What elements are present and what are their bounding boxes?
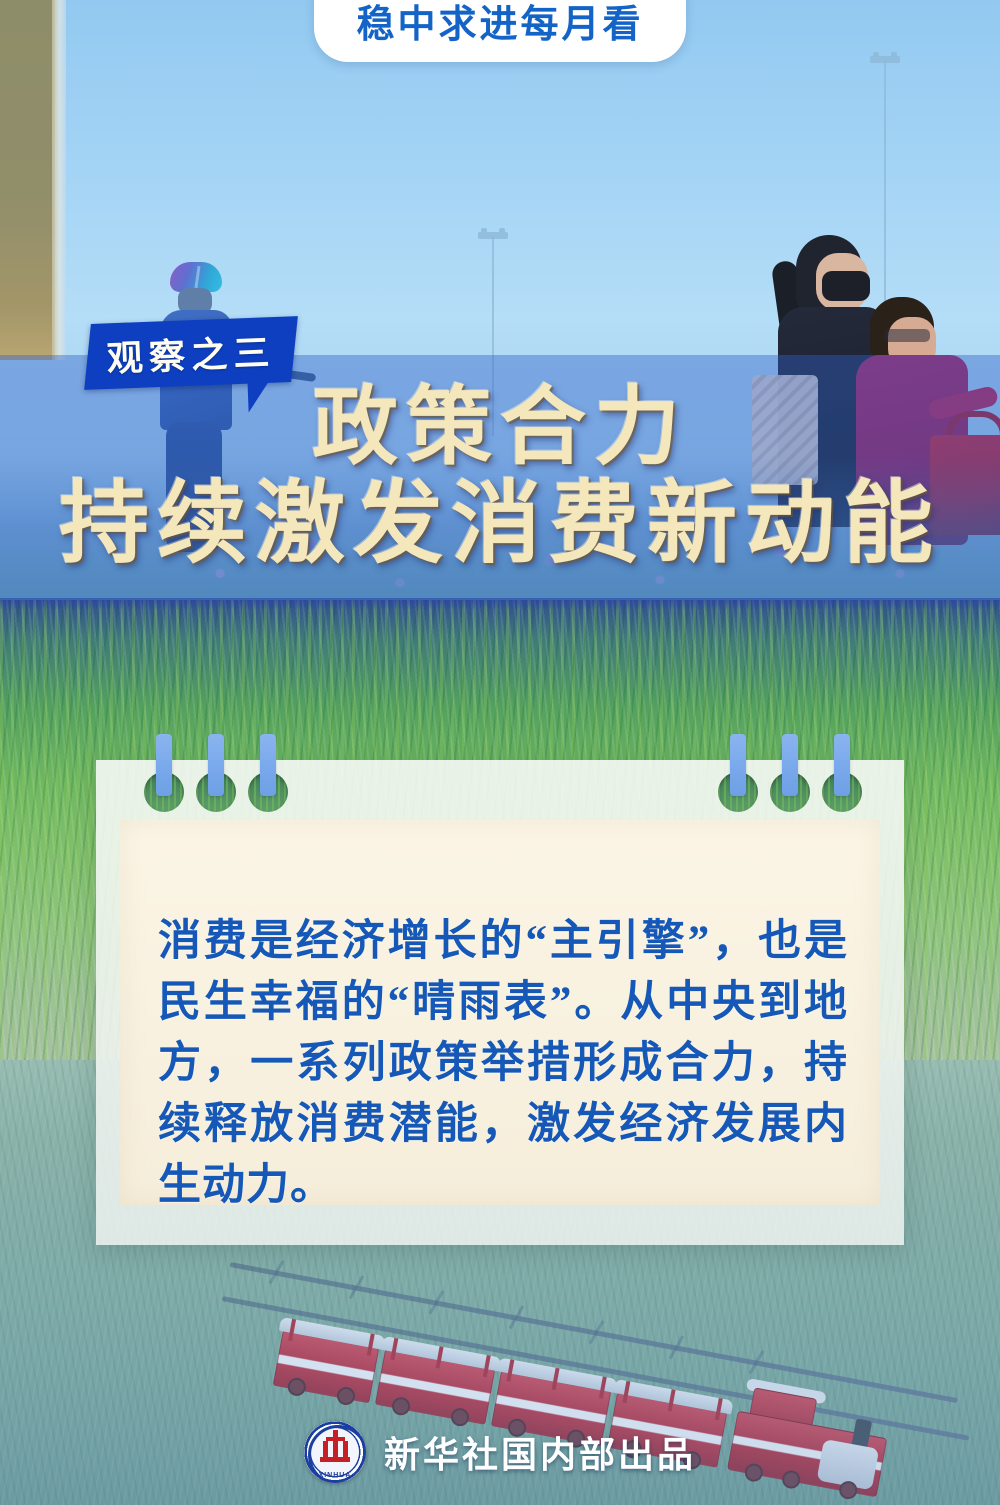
- face-mask-icon: [822, 271, 870, 301]
- main-title: 政策合力 持续激发消费新动能: [0, 382, 1000, 573]
- eyeglasses-icon: [884, 329, 930, 342]
- wall-edge: [52, 0, 66, 360]
- footer-label: 新华社国内部出品: [384, 1426, 696, 1478]
- poster-root: 稳中求进每月看 观察之三 政策合力 持续激发消费新动能 消费是经济增长的“主引擎…: [0, 0, 1000, 1505]
- observation-badge-label: 观察之三: [106, 324, 277, 382]
- light-pole-head-right: [870, 56, 900, 63]
- binder-ring: [730, 734, 746, 796]
- main-title-line-2: 持续激发消费新动能: [0, 477, 1000, 572]
- header-pill[interactable]: 稳中求进每月看: [314, 0, 686, 62]
- binder-ring: [156, 734, 172, 796]
- field-horizon-line: [0, 598, 1000, 610]
- binder-ring: [260, 734, 276, 796]
- header-pill-label: 稳中求进每月看: [356, 0, 643, 48]
- footer: XINHUA 新华社国内部出品: [0, 1421, 1000, 1483]
- main-title-line-1: 政策合力: [0, 382, 1000, 473]
- binder-ring: [208, 734, 224, 796]
- light-pole-head-center: [478, 232, 508, 239]
- xinhua-logo-icon: XINHUA: [304, 1421, 366, 1483]
- wall-strip: [0, 0, 55, 360]
- xinhua-logo-text: XINHUA: [304, 1472, 366, 1479]
- binder-ring: [782, 734, 798, 796]
- binder-ring: [834, 734, 850, 796]
- xinhua-tower-glyph: [320, 1430, 350, 1464]
- body-paragraph: 消费是经济增长的“主引擎”，也是民生幸福的“晴雨表”。从中央到地方，一系列政策举…: [158, 911, 848, 1216]
